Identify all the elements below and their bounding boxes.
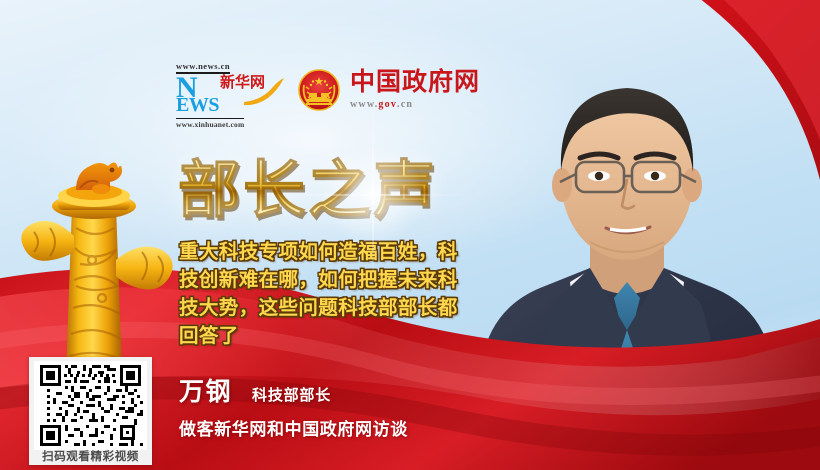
logo-bar: www.news.cn N EWS 新华网 www.xinhuanet.com bbox=[176, 56, 480, 124]
xinhuanet-logo[interactable]: www.news.cn N EWS 新华网 www.xinhuanet.com bbox=[176, 56, 272, 124]
gov-url: www.gov.cn bbox=[350, 100, 480, 110]
speaker-block: 万钢 科技部部长 做客新华网和中国政府网访谈 bbox=[179, 372, 509, 440]
poster-root: www.news.cn N EWS 新华网 www.xinhuanet.com bbox=[0, 0, 820, 470]
national-emblem-icon bbox=[298, 69, 340, 111]
page-title: 部长之声 bbox=[178, 158, 478, 222]
poster-description: 重大科技专项如何造福百姓，科技创新难在哪，如何把握未来科技大势，这些问题科技部部… bbox=[179, 238, 469, 350]
xinhua-letters-ews: EWS bbox=[176, 97, 219, 114]
china-gov-logo[interactable]: 中国政府网 www.gov.cn bbox=[298, 69, 480, 111]
huabiao-column bbox=[18, 148, 178, 368]
gov-chinese-name: 中国政府网 bbox=[350, 70, 480, 95]
speaker-name: 万钢 bbox=[179, 372, 232, 408]
gov-url-suffix: .cn bbox=[397, 99, 413, 110]
xinhua-swoosh-icon bbox=[242, 76, 286, 106]
speaker-portrait bbox=[462, 30, 792, 470]
gov-url-mid: gov bbox=[378, 99, 397, 110]
xinhua-bottom-url: www.xinhuanet.com bbox=[176, 118, 244, 129]
qr-code-block[interactable]: 扫码观看精彩视频 bbox=[29, 357, 152, 465]
qr-code-image bbox=[34, 361, 147, 450]
speaker-subtitle: 做客新华网和中国政府网访谈 bbox=[179, 415, 509, 440]
gov-url-prefix: www. bbox=[350, 99, 378, 110]
qr-caption: 扫码观看精彩视频 bbox=[29, 448, 152, 464]
poster-title-block: 部长之声 bbox=[178, 158, 478, 232]
speaker-role: 科技部部长 bbox=[252, 384, 331, 405]
